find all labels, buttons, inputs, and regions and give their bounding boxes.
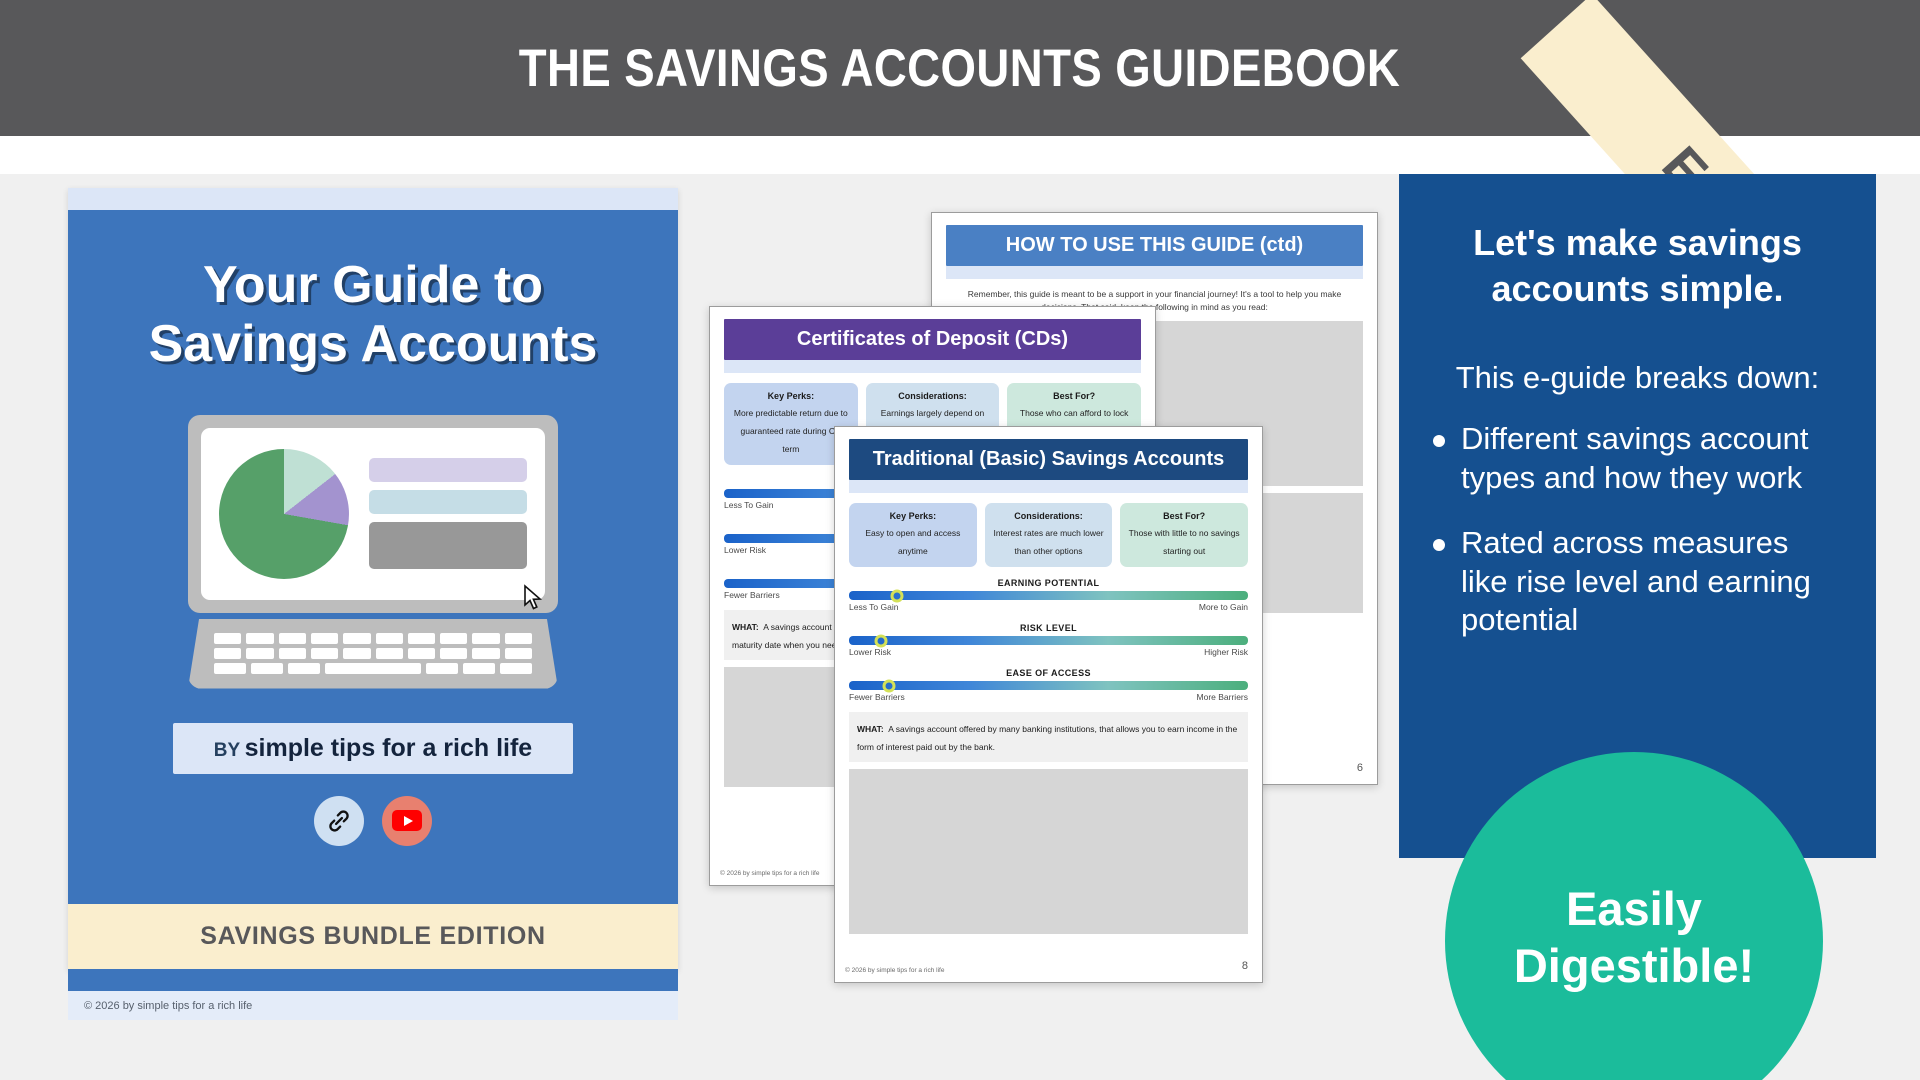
bullet-dot-icon — [1433, 435, 1445, 447]
laptop-screen — [188, 415, 558, 613]
earning-potential-meter: EARNING POTENTIAL Less To Gain More to G… — [849, 578, 1248, 612]
meter-left-label: Fewer Barriers — [849, 692, 905, 702]
page-accent-band — [849, 480, 1248, 493]
badge-label-line-1: Easily — [1514, 880, 1754, 937]
copyright-text: © 2026 by simple tips for a rich life — [84, 1000, 252, 1012]
white-divider-strip — [0, 136, 1920, 174]
best-for-card: Best For? Those with little to no saving… — [1120, 503, 1248, 567]
list-item: Different savings account types and how … — [1433, 420, 1842, 498]
laptop-keyboard — [188, 619, 558, 689]
card-label: Considerations: — [992, 511, 1106, 521]
what-label: WHAT: — [732, 622, 759, 632]
promo-heading: Let's make savings accounts simple. — [1433, 220, 1842, 312]
link-icon[interactable] — [314, 796, 364, 846]
meter-left-label: Less To Gain — [724, 500, 773, 510]
what-text: A savings account offered by many bankin… — [857, 724, 1237, 752]
meter-right-label: More Barriers — [1197, 692, 1248, 702]
page-header: THE SAVINGS ACCOUNTS GUIDEBOOK — [0, 0, 1920, 136]
laptop-illustration — [188, 415, 558, 689]
promo-bullet-list: Different savings account types and how … — [1433, 420, 1842, 640]
pie-chart-icon — [219, 449, 349, 579]
meter-knob[interactable] — [890, 589, 903, 602]
bullet-dot-icon — [1433, 539, 1445, 551]
page-title-bar: Traditional (Basic) Savings Accounts — [849, 439, 1248, 480]
meter-endpoints: Less To Gain More to Gain — [849, 602, 1248, 612]
meter-label: RISK LEVEL — [849, 623, 1248, 633]
card-label: Key Perks: — [856, 511, 970, 521]
byline-prefix: BY — [214, 740, 240, 761]
page-number: 6 — [1357, 762, 1363, 774]
info-card-row: Key Perks: Easy to open and access anyti… — [849, 503, 1248, 567]
page-title-bar: HOW TO USE THIS GUIDE (ctd) — [946, 225, 1363, 266]
key-perks-card: Key Perks: Easy to open and access anyti… — [849, 503, 977, 567]
page-accent-band — [724, 360, 1141, 373]
meter-endpoints: Lower Risk Higher Risk — [849, 647, 1248, 657]
meter-left-label: Fewer Barriers — [724, 590, 780, 600]
cover-main-area: Your Guide to Savings Accounts — [68, 210, 678, 890]
meter-left-label: Lower Risk — [724, 545, 766, 555]
card-label: Best For? — [1127, 511, 1241, 521]
youtube-icon[interactable] — [382, 796, 432, 846]
page-inner: Traditional (Basic) Savings Accounts Key… — [835, 427, 1262, 982]
page-number: 8 — [1242, 960, 1248, 972]
cover-byline: BY simple tips for a rich life — [173, 723, 573, 774]
page-title-bar: Certificates of Deposit (CDs) — [724, 319, 1141, 360]
cover-top-band — [68, 188, 678, 210]
cover-title: Your Guide to Savings Accounts — [92, 256, 654, 375]
card-text: Easy to open and access anytime — [865, 528, 960, 556]
risk-level-meter: RISK LEVEL Lower Risk Higher Risk — [849, 623, 1248, 657]
promo-heading-line-1: Let's make savings — [1433, 220, 1842, 266]
considerations-card: Considerations: Interest rates are much … — [985, 503, 1113, 567]
cover-footer: © 2026 by simple tips for a rich life — [68, 991, 678, 1020]
card-text: More predictable return due to guarantee… — [734, 408, 848, 454]
meter-right-label: Higher Risk — [1204, 647, 1248, 657]
keyboard-row — [214, 648, 532, 659]
what-definition-box: WHAT: A savings account offered by many … — [849, 712, 1248, 762]
meter-track[interactable] — [849, 591, 1248, 600]
card-label: Best For? — [1014, 391, 1134, 401]
laptop-screen-content — [201, 428, 545, 600]
meter-endpoints: Fewer Barriers More Barriers — [849, 692, 1248, 702]
page-footer: © 2026 by simple tips for a rich life — [720, 870, 819, 877]
list-item-label: Different savings account types and how … — [1461, 420, 1842, 498]
meter-label: EASE OF ACCESS — [849, 668, 1248, 678]
document-page-traditional-savings[interactable]: Traditional (Basic) Savings Accounts Key… — [834, 426, 1263, 983]
card-text: Those with little to no savings starting… — [1129, 528, 1240, 556]
page-footer: © 2026 by simple tips for a rich life — [845, 967, 944, 974]
cover-title-line-2: Savings Accounts — [92, 315, 654, 374]
meter-label: EARNING POTENTIAL — [849, 578, 1248, 588]
chart-bar-3 — [369, 522, 527, 569]
cover-bottom-band — [68, 969, 678, 991]
meter-track[interactable] — [849, 681, 1248, 690]
meter-left-label: Less To Gain — [849, 602, 898, 612]
page-content-placeholder — [849, 769, 1248, 934]
card-text: Interest rates are much lower than other… — [993, 528, 1103, 556]
card-label: Key Perks: — [731, 391, 851, 401]
cover-title-line-1: Your Guide to — [92, 256, 654, 315]
youtube-glyph — [392, 810, 422, 831]
meter-left-label: Lower Risk — [849, 647, 891, 657]
badge-label: Easily Digestible! — [1514, 880, 1754, 995]
meter-track[interactable] — [849, 636, 1248, 645]
meter-knob[interactable] — [874, 634, 887, 647]
page-title: THE SAVINGS ACCOUNTS GUIDEBOOK — [519, 38, 1401, 99]
meter-knob[interactable] — [882, 679, 895, 692]
cover-social-icons — [92, 796, 654, 846]
cover-blue-divider — [68, 890, 678, 904]
page-accent-band — [946, 266, 1363, 279]
keyboard-row — [214, 663, 532, 674]
chart-bar-1 — [369, 458, 527, 482]
edition-label: SAVINGS BUNDLE EDITION — [200, 922, 546, 950]
what-label: WHAT: — [857, 724, 884, 734]
list-item: Rated across measures like rise level an… — [1433, 524, 1842, 640]
list-item-label: Rated across measures like rise level an… — [1461, 524, 1842, 640]
cover-edition-band: SAVINGS BUNDLE EDITION — [68, 904, 678, 969]
ease-of-access-meter: EASE OF ACCESS Fewer Barriers More Barri… — [849, 668, 1248, 702]
card-label: Considerations: — [873, 391, 993, 401]
promo-heading-line-2: accounts simple. — [1433, 266, 1842, 312]
chart-bars-group — [369, 458, 527, 569]
byline-author: simple tips for a rich life — [245, 734, 533, 762]
promo-lead-text: This e-guide breaks down: — [1433, 358, 1842, 398]
chart-bar-2 — [369, 490, 527, 514]
meter-right-label: More to Gain — [1199, 602, 1248, 612]
book-cover[interactable]: Your Guide to Savings Accounts — [68, 188, 678, 970]
badge-label-line-2: Digestible! — [1514, 937, 1754, 994]
keyboard-row — [214, 633, 532, 644]
